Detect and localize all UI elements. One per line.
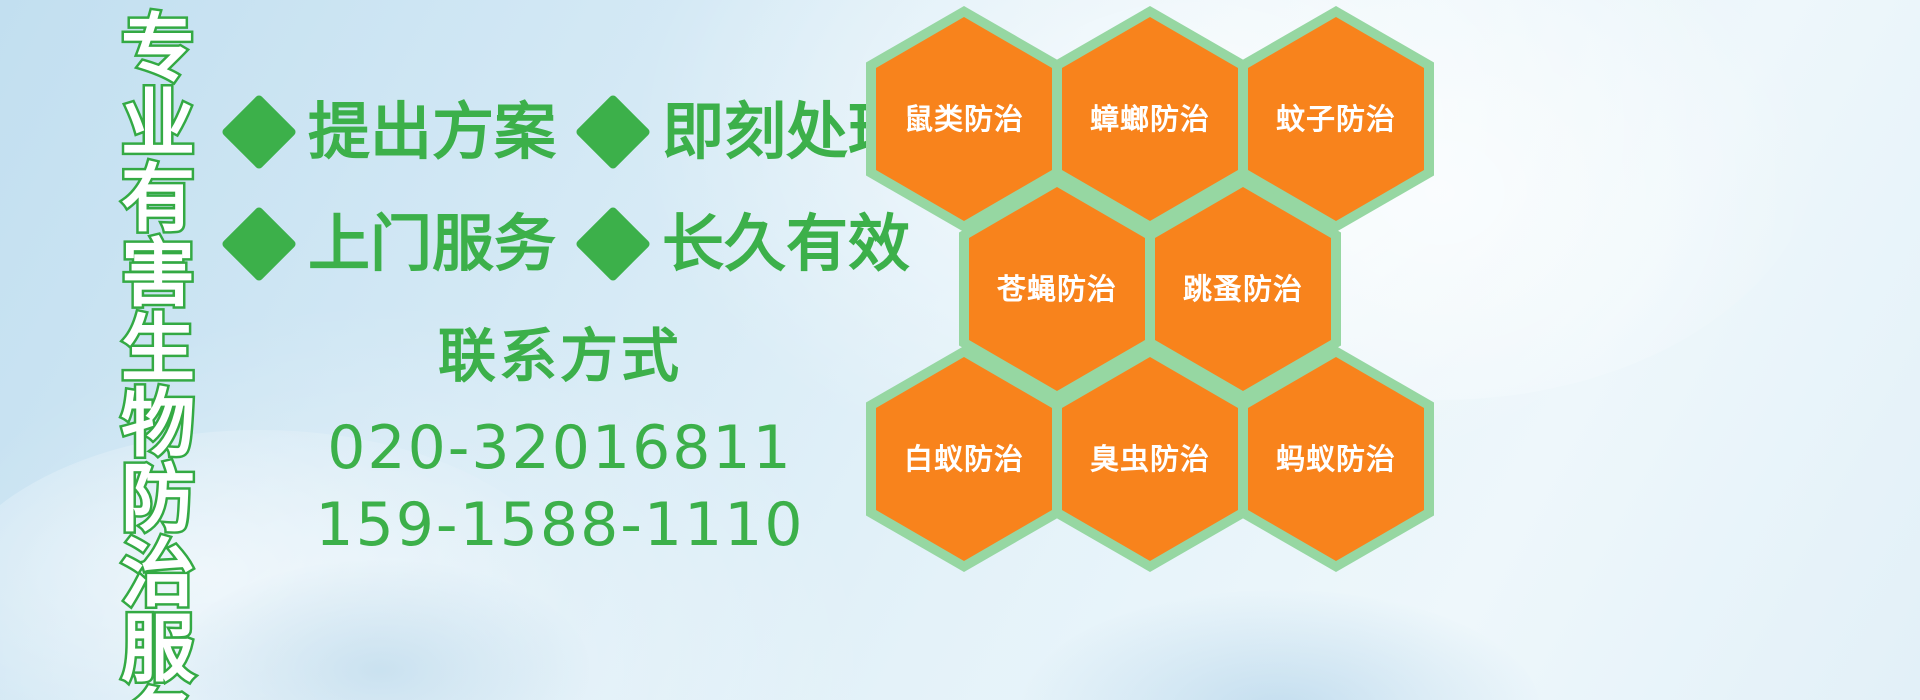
service-label: 跳蚤防治 <box>1183 275 1303 304</box>
diamond-bullet-icon <box>221 94 297 170</box>
diamond-bullet-icon <box>575 206 651 282</box>
vertical-slogan-char: 物 <box>121 387 195 461</box>
feature-label: 上门服务 <box>308 213 556 275</box>
service-label: 鼠类防治 <box>904 105 1024 134</box>
hex-inner: 臭虫防治 <box>1062 357 1238 561</box>
vertical-slogan-char: 专 <box>121 12 195 86</box>
service-label: 白蚁防治 <box>904 445 1024 474</box>
hex-inner: 蟑螂防治 <box>1062 17 1238 221</box>
vertical-slogan-char: 害 <box>121 237 195 311</box>
contact-phone-mobile[interactable]: 159-1588-1110 <box>300 487 820 564</box>
hex-inner: 蚊子防治 <box>1248 17 1424 221</box>
vertical-slogan-char: 业 <box>121 87 195 161</box>
vertical-slogan-char: 防 <box>121 462 195 536</box>
contact-title: 联系方式 <box>300 322 820 390</box>
hex-inner: 苍蝇防治 <box>969 187 1145 391</box>
vertical-slogan-char: 有 <box>121 162 195 236</box>
service-label: 蟑螂防治 <box>1090 105 1210 134</box>
hex-inner: 跳蚤防治 <box>1155 187 1331 391</box>
hex-inner: 蚂蚁防治 <box>1248 357 1424 561</box>
feature-list: 提出方案 即刻处理 上门服务 长久有效 <box>232 76 872 300</box>
hex-inner: 白蚁防治 <box>876 357 1052 561</box>
background-blob-bottom-left <box>170 560 590 700</box>
vertical-slogan-char: 生 <box>121 312 195 386</box>
contact-phone-landline[interactable]: 020-32016811 <box>300 410 820 487</box>
service-label: 臭虫防治 <box>1090 445 1210 474</box>
vertical-slogan-char: 治 <box>121 537 195 611</box>
vertical-slogan-char: 服 <box>121 612 195 686</box>
feature-row: 提出方案 即刻处理 <box>232 76 872 188</box>
hex-inner: 鼠类防治 <box>876 17 1052 221</box>
feature-row: 上门服务 长久有效 <box>232 188 872 300</box>
service-label: 蚂蚁防治 <box>1276 445 1396 474</box>
service-label: 苍蝇防治 <box>997 275 1117 304</box>
service-label: 蚊子防治 <box>1276 105 1396 134</box>
promo-banner: 专 业 有 害 生 物 防 治 服 务 提出方案 即刻处理 上门服务 长久有效 … <box>0 0 1920 700</box>
vertical-slogan-char: 务 <box>121 687 195 700</box>
diamond-bullet-icon <box>575 94 651 170</box>
contact-block: 联系方式 020-32016811 159-1588-1110 <box>300 322 820 564</box>
vertical-slogan: 专 业 有 害 生 物 防 治 服 务 <box>106 12 210 690</box>
service-honeycomb: 鼠类防治 蟑螂防治 蚊子防治 苍蝇防治 跳蚤防治 白蚁防治 <box>856 0 1456 700</box>
feature-label: 提出方案 <box>308 101 556 163</box>
diamond-bullet-icon <box>221 206 297 282</box>
